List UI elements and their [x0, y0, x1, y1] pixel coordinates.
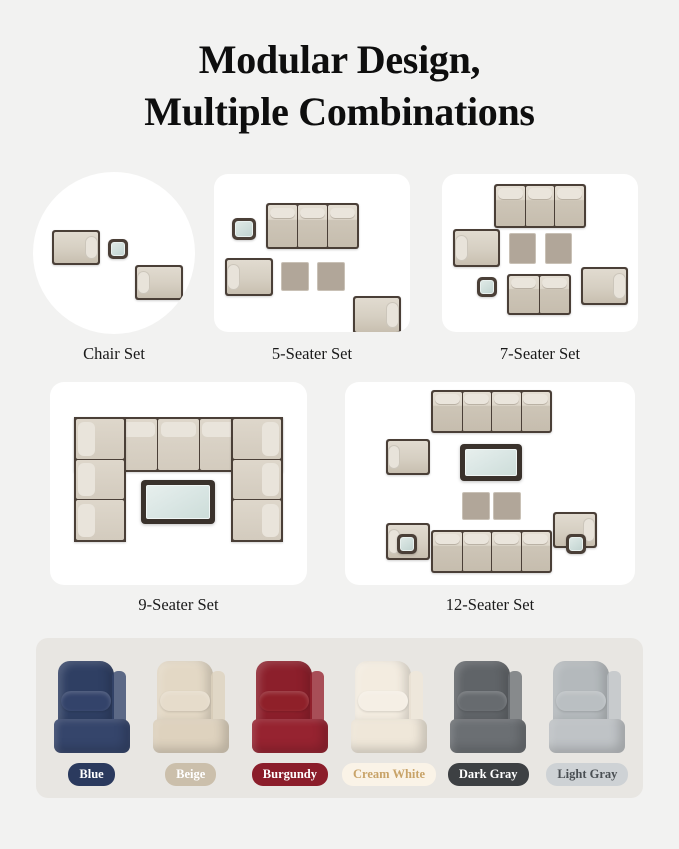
sofa-seat [540, 276, 570, 313]
ottoman [281, 262, 309, 291]
armchair [386, 439, 430, 475]
cushion-preview [149, 661, 233, 757]
sectional-run-left [74, 417, 126, 542]
caption-12-seater-set: 12-Seater Set [345, 595, 635, 615]
sofa-seat [555, 186, 584, 226]
sectional-seat [233, 460, 281, 500]
color-label-pill[interactable]: Burgundy [252, 763, 328, 787]
chair-arm-bolster [137, 271, 149, 295]
armchair [353, 296, 401, 332]
coffee-table [141, 480, 215, 524]
sectional-seat [76, 460, 124, 500]
side-table-glass-top [235, 221, 253, 237]
armchair [581, 267, 628, 305]
sofa-seat [522, 532, 551, 571]
sofa-seat [268, 205, 297, 247]
side-table [566, 534, 586, 554]
cushion-seat [153, 719, 229, 753]
color-label-pill[interactable]: Light Gray [546, 763, 628, 787]
cushion-seat [450, 719, 526, 753]
three-seat-sofa [266, 203, 359, 249]
chair-arm-bolster [613, 273, 625, 299]
sectional-seat [158, 419, 198, 470]
color-swatch[interactable]: Light Gray [541, 661, 633, 787]
armchair [453, 229, 500, 267]
config-card-5-seater-set[interactable] [214, 174, 410, 332]
caption-7-seater-set: 7-Seater Set [442, 344, 638, 364]
cushion-preview [50, 661, 134, 757]
chair-arm-bolster [227, 264, 239, 290]
color-label-pill[interactable]: Beige [165, 763, 216, 787]
cushion-lumbar [457, 691, 507, 711]
color-swatch[interactable]: Cream White [343, 661, 435, 787]
cushion-lumbar [259, 691, 309, 711]
cushion-lumbar [556, 691, 606, 711]
cushion-seat [54, 719, 130, 753]
cushion-seat [549, 719, 625, 753]
ottoman [462, 492, 490, 520]
color-label-pill[interactable]: Blue [68, 763, 114, 787]
sofa-seat [463, 532, 492, 571]
coffee-table-glass-top [465, 449, 517, 476]
cushion-seat [351, 719, 427, 753]
cushion-preview [545, 661, 629, 757]
sectional-seat [233, 500, 281, 540]
chair-arm-bolster [388, 445, 399, 470]
color-swatch[interactable]: Burgundy [244, 661, 336, 787]
chair-arm-bolster [455, 235, 467, 261]
cushion-lumbar [61, 691, 111, 711]
sofa-seat [328, 205, 357, 247]
ottoman [317, 262, 345, 291]
cushion-seat [252, 719, 328, 753]
sectional-seat [233, 419, 281, 459]
side-table-glass-top [480, 280, 494, 294]
cushion-preview [347, 661, 431, 757]
config-card-chair-set[interactable] [33, 172, 195, 334]
sectional-seat [76, 500, 124, 540]
caption-9-seater-set: 9-Seater Set [50, 595, 307, 615]
cushion-preview [446, 661, 530, 757]
side-table [232, 218, 256, 240]
chair-arm-bolster [386, 302, 398, 328]
ottoman [545, 233, 572, 264]
9-seater-diagram [50, 382, 307, 585]
three-seat-sofa [494, 184, 586, 228]
sofa-seat [298, 205, 327, 247]
side-table-glass-top [569, 537, 583, 551]
12-seater-diagram [345, 382, 635, 585]
side-table [397, 534, 417, 554]
caption-5-seater-set: 5-Seater Set [214, 344, 410, 364]
color-label-pill[interactable]: Dark Gray [448, 763, 529, 787]
coffee-table [460, 444, 522, 481]
sofa-seat [463, 392, 492, 431]
config-card-9-seater-set[interactable] [50, 382, 307, 585]
side-table [477, 277, 497, 297]
cushion-lumbar [160, 691, 210, 711]
sofa-seat [509, 276, 539, 313]
sectional-run-right [231, 417, 283, 542]
armchair [225, 258, 273, 296]
sectional-seat [76, 419, 124, 459]
sofa-seat [433, 392, 462, 431]
7-seater-diagram [442, 174, 638, 332]
cushion-preview [248, 661, 332, 757]
color-swatch[interactable]: Beige [145, 661, 237, 787]
title-line-2: Multiple Combinations [0, 86, 679, 138]
color-swatch[interactable]: Blue [46, 661, 138, 787]
chair-arm-bolster [85, 236, 97, 260]
5-seater-diagram [214, 174, 410, 332]
coffee-table-glass-top [146, 485, 210, 519]
four-seat-sofa [431, 390, 552, 433]
four-seat-sofa [431, 530, 552, 573]
sofa-seat [492, 532, 521, 571]
color-swatch-list: BlueBeigeBurgundyCream WhiteDark GrayLig… [36, 638, 643, 798]
color-swatch[interactable]: Dark Gray [442, 661, 534, 787]
sofa-seat [433, 532, 462, 571]
sofa-seat [526, 186, 555, 226]
caption-chair-set: Chair Set [33, 344, 195, 364]
chair-set-diagram [33, 172, 195, 334]
armchair [52, 230, 100, 265]
side-table-glass-top [111, 242, 125, 256]
sofa-seat [496, 186, 525, 226]
config-card-7-seater-set[interactable] [442, 174, 638, 332]
color-options-panel: BlueBeigeBurgundyCream WhiteDark GrayLig… [36, 638, 643, 798]
ottoman [509, 233, 536, 264]
title-line-1: Modular Design, [0, 34, 679, 86]
sofa-seat [522, 392, 551, 431]
armchair [135, 265, 183, 300]
config-card-12-seater-set[interactable] [345, 382, 635, 585]
ottoman [493, 492, 521, 520]
color-label-pill[interactable]: Cream White [342, 763, 436, 787]
cushion-lumbar [358, 691, 408, 711]
sofa-seat [492, 392, 521, 431]
page-title: Modular Design, Multiple Combinations [0, 34, 679, 138]
side-table [108, 239, 128, 259]
loveseat [507, 274, 571, 315]
side-table-glass-top [400, 537, 414, 551]
